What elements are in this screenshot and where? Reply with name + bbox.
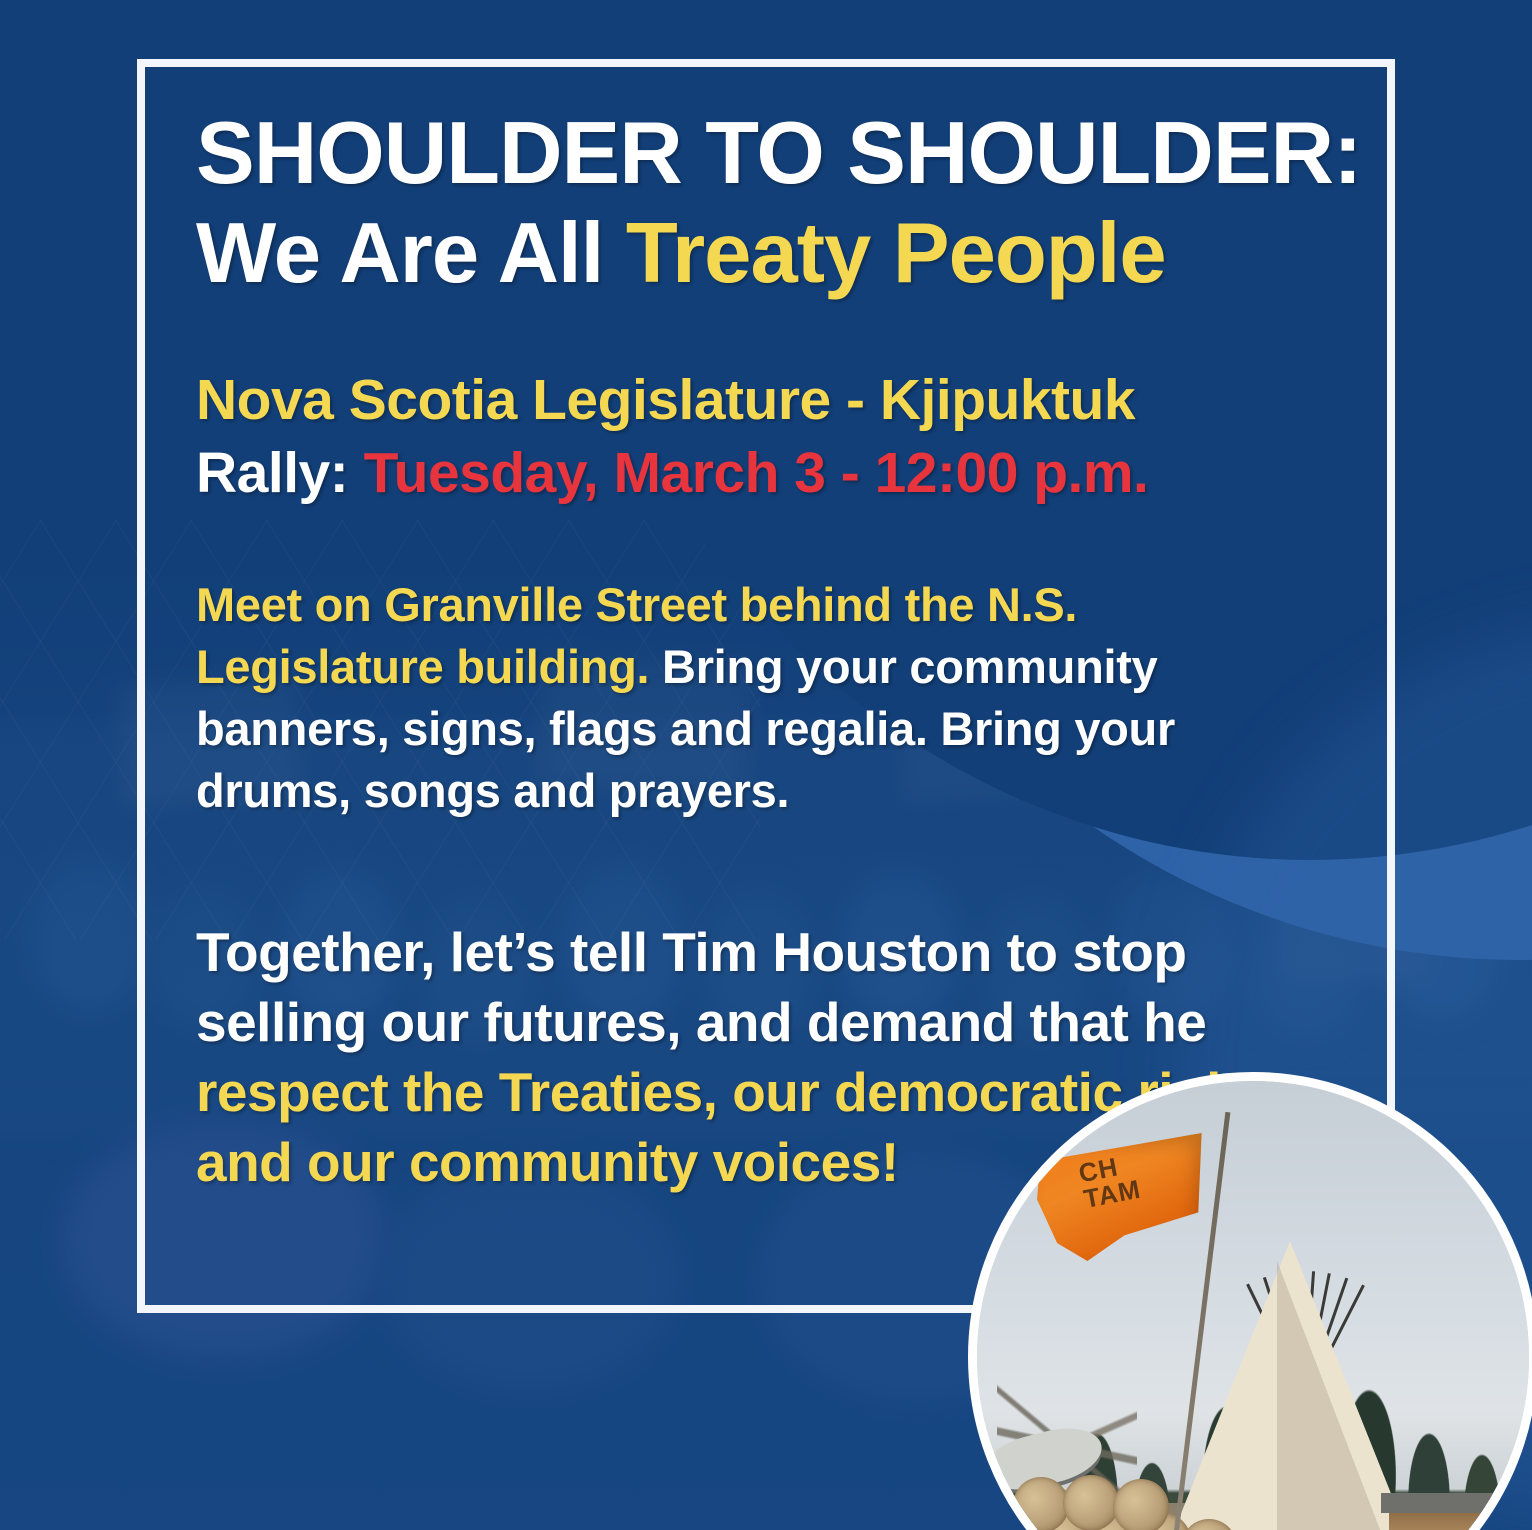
- headline-subtitle-white: We Are All: [196, 206, 626, 301]
- page-title: SHOULDER TO SHOULDER:: [196, 110, 1371, 196]
- event-location-text: Nova Scotia Legislature - Kjipuktuk: [196, 368, 1135, 432]
- event-rally-line: Rally: Tuesday, March 3 - 12:00 p.m.: [196, 437, 1371, 510]
- meeting-instructions: Meet on Granville Street behind the N.S.…: [196, 574, 1326, 822]
- call-to-action-white: Together, let’s tell Tim Houston to stop…: [196, 921, 1206, 1053]
- rally-poster: SHOULDER TO SHOULDER: We Are All Treaty …: [0, 0, 1532, 1530]
- photo-teepee-shadow: [1277, 1261, 1392, 1530]
- rally-label: Rally:: [196, 441, 364, 505]
- photo-wooden-cabin: [1389, 1509, 1511, 1530]
- photo-flag-text: CH TAM: [1077, 1150, 1143, 1212]
- event-details: Nova Scotia Legislature - Kjipuktuk Rall…: [196, 364, 1371, 510]
- teepee-photo-circle: CH TAM: [968, 1072, 1532, 1530]
- rally-datetime: Tuesday, March 3 - 12:00 p.m.: [364, 441, 1149, 505]
- headline-subtitle-yellow: Treaty People: [626, 206, 1166, 301]
- event-location: Nova Scotia Legislature - Kjipuktuk: [196, 364, 1371, 437]
- photo-woodpile: [968, 1455, 1277, 1530]
- headline-subtitle: We Are All Treaty People: [196, 208, 1371, 300]
